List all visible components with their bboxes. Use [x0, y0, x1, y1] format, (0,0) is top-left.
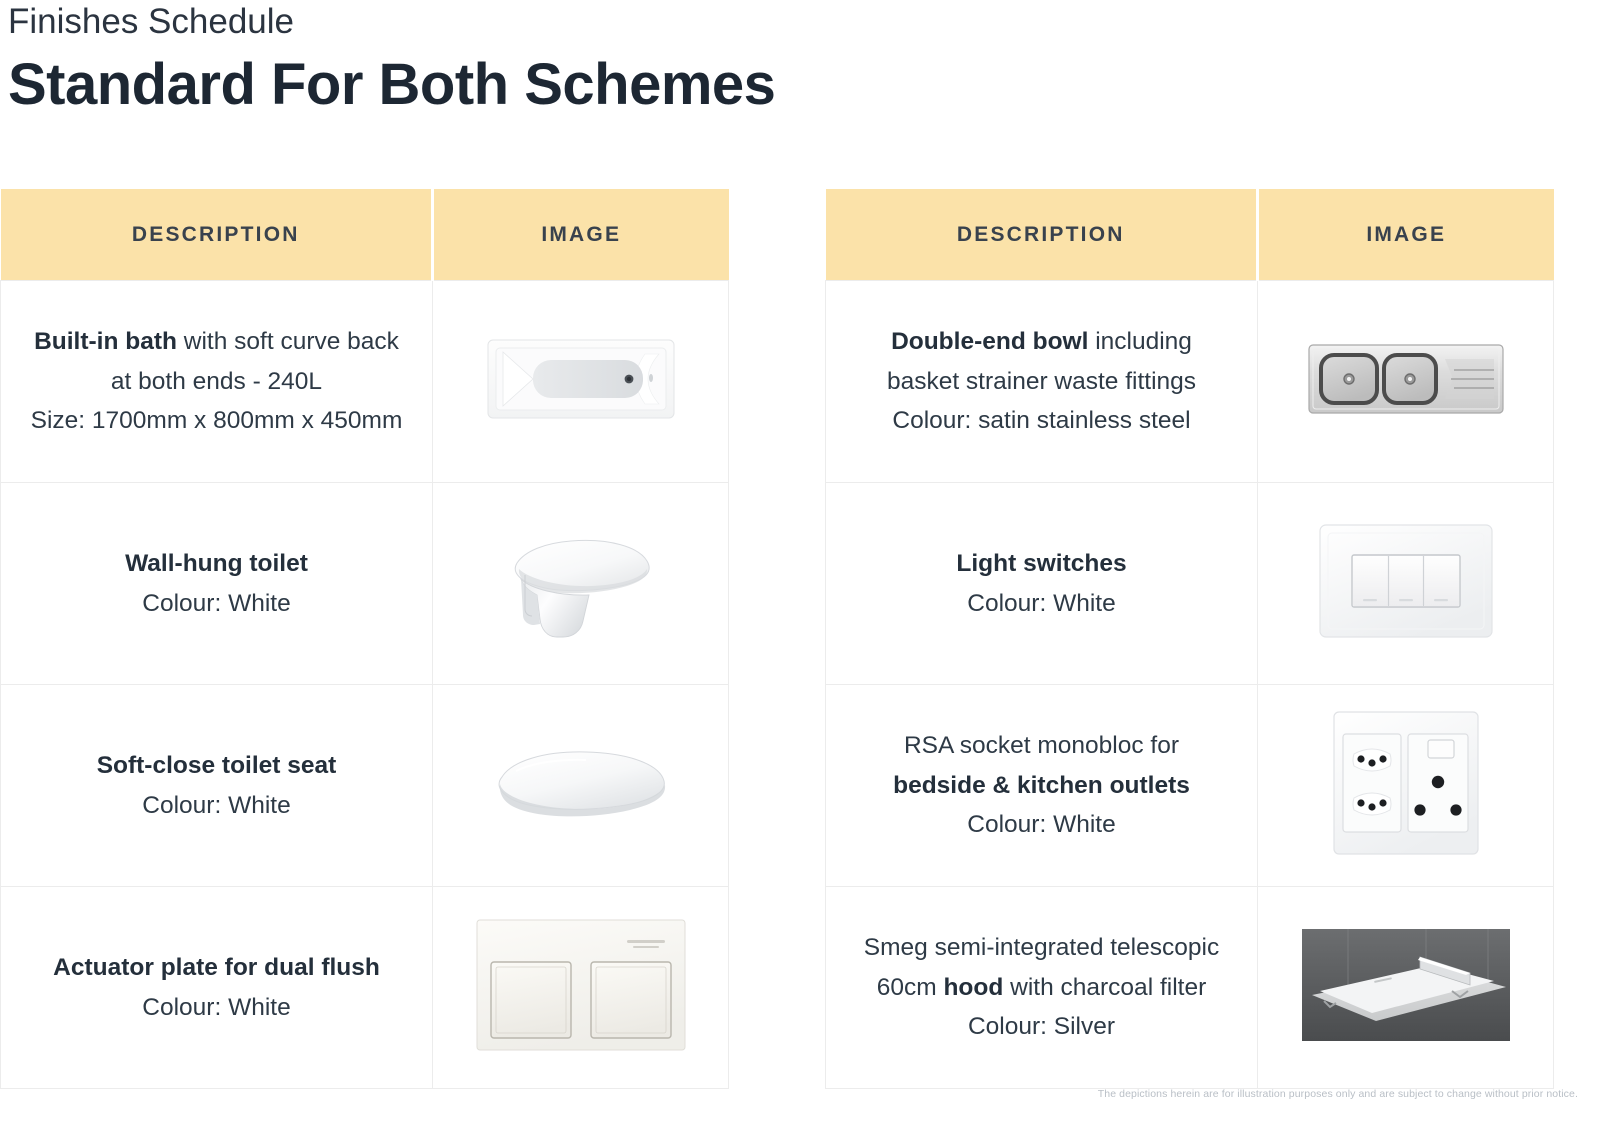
- description-line: bedside & kitchen outlets: [840, 766, 1243, 806]
- description-cell: Smeg semi-integrated telescopic60cm hood…: [826, 887, 1258, 1089]
- description-line: Colour: Silver: [840, 1007, 1243, 1047]
- actuator-plate-image: [475, 918, 687, 1052]
- description-line: Actuator plate for dual flush: [15, 948, 418, 988]
- description-line: Colour: White: [15, 584, 418, 624]
- table-header-row: DESCRIPTION IMAGE: [1, 189, 729, 281]
- built-in-bath-image: [487, 338, 675, 420]
- description-text: Light switchesColour: White: [826, 538, 1257, 629]
- description-line: Double-end bowl including: [840, 322, 1243, 362]
- description-line: Wall-hung toilet: [15, 544, 418, 584]
- table-header-row: DESCRIPTION IMAGE: [826, 189, 1554, 281]
- description-cell: RSA socket monobloc forbedside & kitchen…: [826, 685, 1258, 887]
- table-row: Wall-hung toiletColour: White: [1, 483, 729, 685]
- description-line: Built-in bath with soft curve back: [15, 322, 418, 362]
- description-cell: Wall-hung toiletColour: White: [1, 483, 433, 685]
- description-text: Wall-hung toiletColour: White: [1, 538, 432, 629]
- description-line: basket strainer waste fittings: [840, 362, 1243, 402]
- right-schedule-table: DESCRIPTION IMAGE Double-end bowl includ…: [825, 189, 1554, 1089]
- image-cell: [433, 887, 729, 1089]
- column-header-image: IMAGE: [1258, 189, 1554, 281]
- image-cell: [433, 281, 729, 483]
- table-row: Light switchesColour: White: [826, 483, 1554, 685]
- description-line: RSA socket monobloc for: [840, 726, 1243, 766]
- description-cell: Double-end bowl includingbasket strainer…: [826, 281, 1258, 483]
- description-text: Double-end bowl includingbasket strainer…: [826, 316, 1257, 447]
- built-in-bath-image: [487, 338, 675, 420]
- image-cell: [433, 483, 729, 685]
- image-cell: [1258, 483, 1554, 685]
- light-switch-image: [1318, 523, 1494, 639]
- description-emphasis: bedside & kitchen outlets: [893, 772, 1190, 799]
- table-row: Built-in bath with soft curve backat bot…: [1, 281, 729, 483]
- rsa-socket-monobloc-image: [1332, 710, 1480, 856]
- description-text: Soft-close toilet seatColour: White: [1, 740, 432, 831]
- wall-hung-toilet-image: [497, 517, 665, 645]
- smeg-telescopic-hood-image: [1302, 929, 1510, 1041]
- wall-hung-toilet-image: [497, 517, 665, 645]
- description-cell: Actuator plate for dual flushColour: Whi…: [1, 887, 433, 1089]
- description-text: Built-in bath with soft curve backat bot…: [1, 316, 432, 447]
- rsa-socket-monobloc-image: [1332, 710, 1480, 856]
- column-header-description: DESCRIPTION: [1, 189, 433, 281]
- description-emphasis: Double-end bowl: [891, 328, 1088, 355]
- description-text: Actuator plate for dual flushColour: Whi…: [1, 942, 432, 1033]
- description-line: Light switches: [840, 544, 1243, 584]
- page-eyebrow: Finishes Schedule: [8, 4, 775, 39]
- disclaimer-text: The depictions herein are for illustrati…: [1098, 1088, 1578, 1100]
- image-cell: [433, 685, 729, 887]
- image-cell: [1258, 887, 1554, 1089]
- table-row: Smeg semi-integrated telescopic60cm hood…: [826, 887, 1554, 1089]
- description-emphasis: Actuator plate for dual flush: [53, 954, 380, 981]
- description-line: Colour: White: [15, 988, 418, 1028]
- smeg-telescopic-hood-image: [1302, 929, 1510, 1041]
- description-cell: Built-in bath with soft curve backat bot…: [1, 281, 433, 483]
- table-row: Actuator plate for dual flushColour: Whi…: [1, 887, 729, 1089]
- description-emphasis: Light switches: [956, 550, 1126, 577]
- soft-close-toilet-seat-image: [488, 737, 674, 829]
- actuator-plate-image: [475, 918, 687, 1052]
- column-header-description: DESCRIPTION: [826, 189, 1258, 281]
- image-cell: [1258, 685, 1554, 887]
- description-emphasis: Wall-hung toilet: [125, 550, 308, 577]
- description-line: at both ends - 240L: [15, 362, 418, 402]
- description-line: Colour: White: [840, 584, 1243, 624]
- double-end-bowl-sink-image: [1308, 339, 1504, 419]
- description-line: Soft-close toilet seat: [15, 746, 418, 786]
- description-line: 60cm hood with charcoal filter: [840, 968, 1243, 1008]
- column-header-image: IMAGE: [433, 189, 729, 281]
- light-switch-image: [1318, 523, 1494, 639]
- page-title: Standard For Both Schemes: [8, 55, 775, 116]
- title-block: Finishes Schedule Standard For Both Sche…: [8, 4, 775, 116]
- left-schedule-table: DESCRIPTION IMAGE Built-in bath with sof…: [0, 189, 729, 1089]
- description-line: Smeg semi-integrated telescopic: [840, 928, 1243, 968]
- description-cell: Soft-close toilet seatColour: White: [1, 685, 433, 887]
- description-emphasis: hood: [943, 974, 1003, 1001]
- table-row: RSA socket monobloc forbedside & kitchen…: [826, 685, 1554, 887]
- finishes-schedule-page: Finishes Schedule Standard For Both Sche…: [0, 0, 1600, 1137]
- image-cell: [1258, 281, 1554, 483]
- description-emphasis: Built-in bath: [34, 328, 177, 355]
- description-emphasis: Soft-close toilet seat: [97, 752, 337, 779]
- description-cell: Light switchesColour: White: [826, 483, 1258, 685]
- description-line: Size: 1700mm x 800mm x 450mm: [15, 401, 418, 441]
- description-line: Colour: White: [15, 786, 418, 826]
- soft-close-toilet-seat-image: [488, 737, 674, 829]
- description-line: Colour: White: [840, 805, 1243, 845]
- description-text: RSA socket monobloc forbedside & kitchen…: [826, 720, 1257, 851]
- description-line: Colour: satin stainless steel: [840, 401, 1243, 441]
- description-text: Smeg semi-integrated telescopic60cm hood…: [826, 922, 1257, 1053]
- table-row: Soft-close toilet seatColour: White: [1, 685, 729, 887]
- double-end-bowl-sink-image: [1308, 339, 1504, 419]
- table-row: Double-end bowl includingbasket strainer…: [826, 281, 1554, 483]
- schedule-tables: DESCRIPTION IMAGE Built-in bath with sof…: [0, 189, 1600, 1089]
